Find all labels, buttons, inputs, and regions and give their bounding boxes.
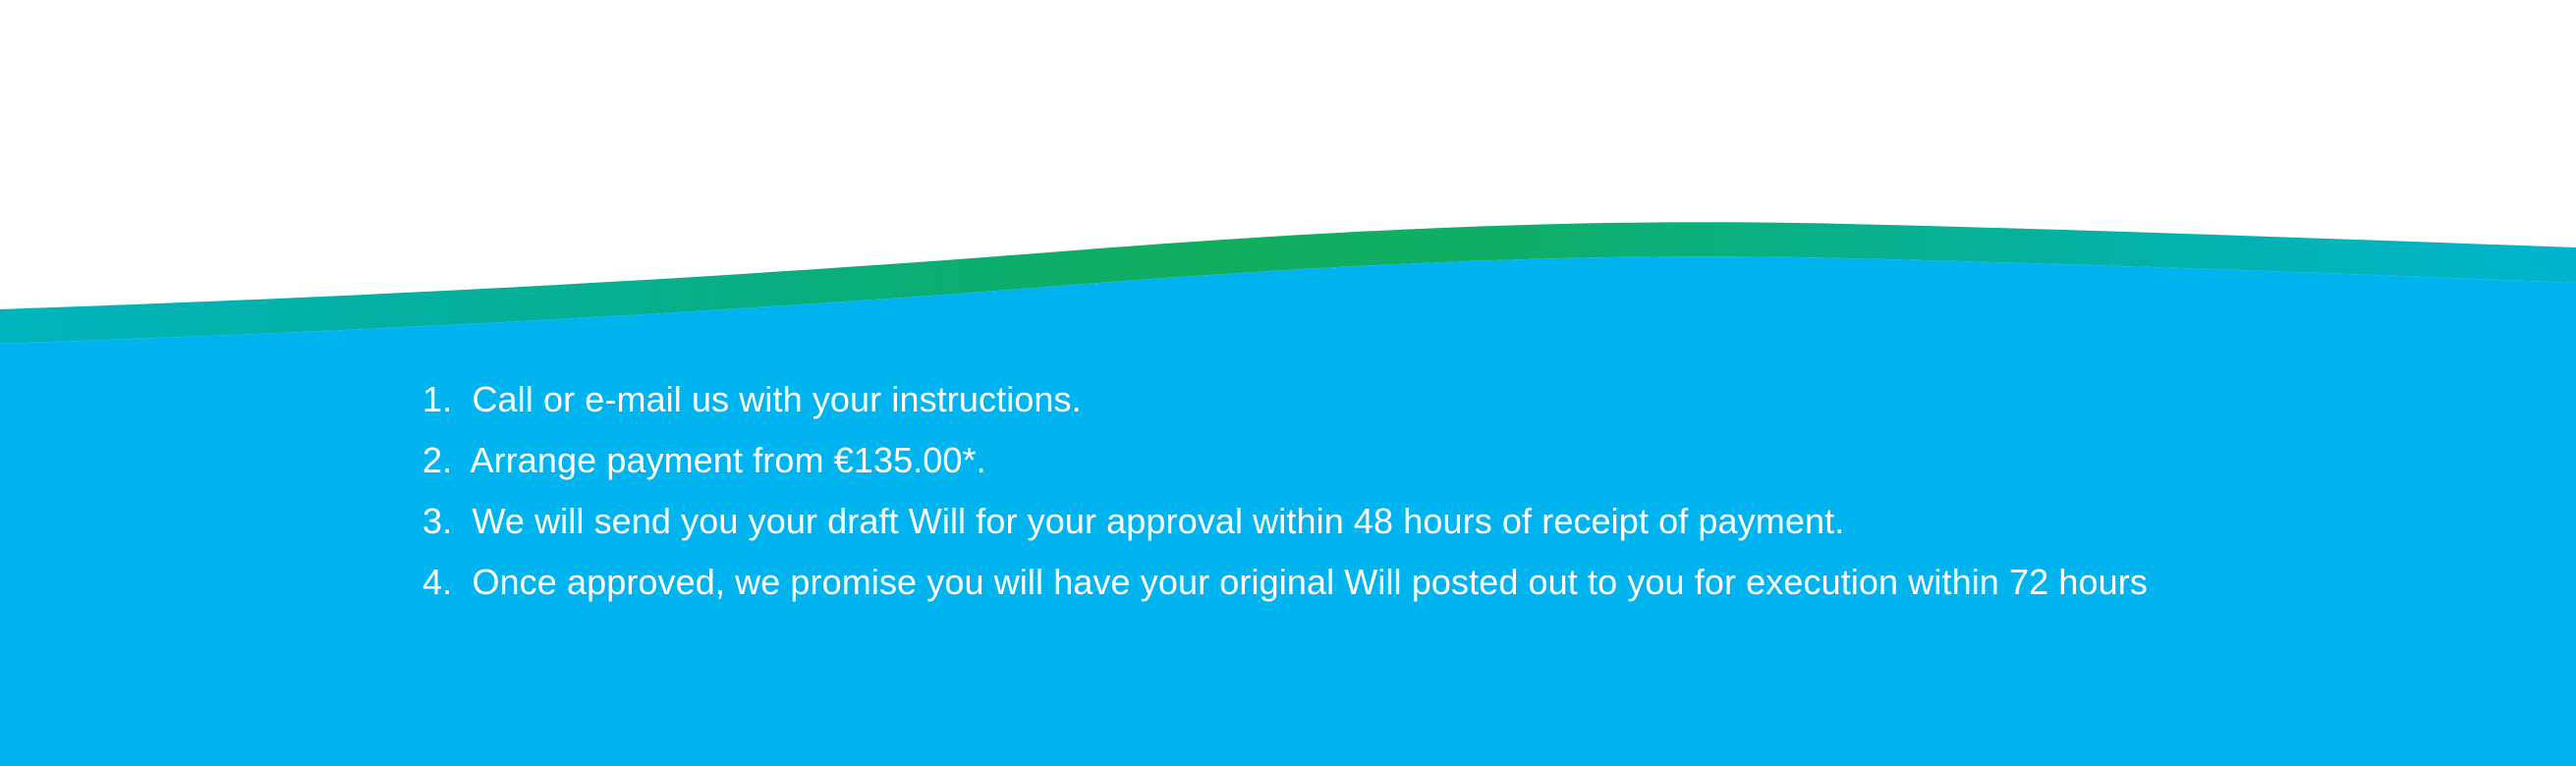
step-text: We will send you your draft Will for you… — [472, 501, 1844, 541]
step-text: Call or e-mail us with your instructions… — [472, 379, 1081, 419]
list-item: 1. Call or e-mail us with your instructi… — [422, 369, 2148, 430]
step-text: Arrange payment from €135.00*. — [470, 440, 985, 480]
step-number: 2. — [422, 440, 462, 480]
wave-banner: 1. Call or e-mail us with your instructi… — [0, 0, 2576, 766]
step-number: 4. — [422, 562, 462, 602]
list-item: 2. Arrange payment from €135.00*. — [422, 430, 2148, 491]
step-number: 1. — [422, 379, 462, 419]
step-number: 3. — [422, 501, 462, 541]
list-item: 3. We will send you your draft Will for … — [422, 491, 2148, 552]
process-steps-list: 1. Call or e-mail us with your instructi… — [422, 369, 2148, 613]
list-item: 4. Once approved, we promise you will ha… — [422, 552, 2148, 613]
step-text: Once approved, we promise you will have … — [472, 562, 2147, 602]
